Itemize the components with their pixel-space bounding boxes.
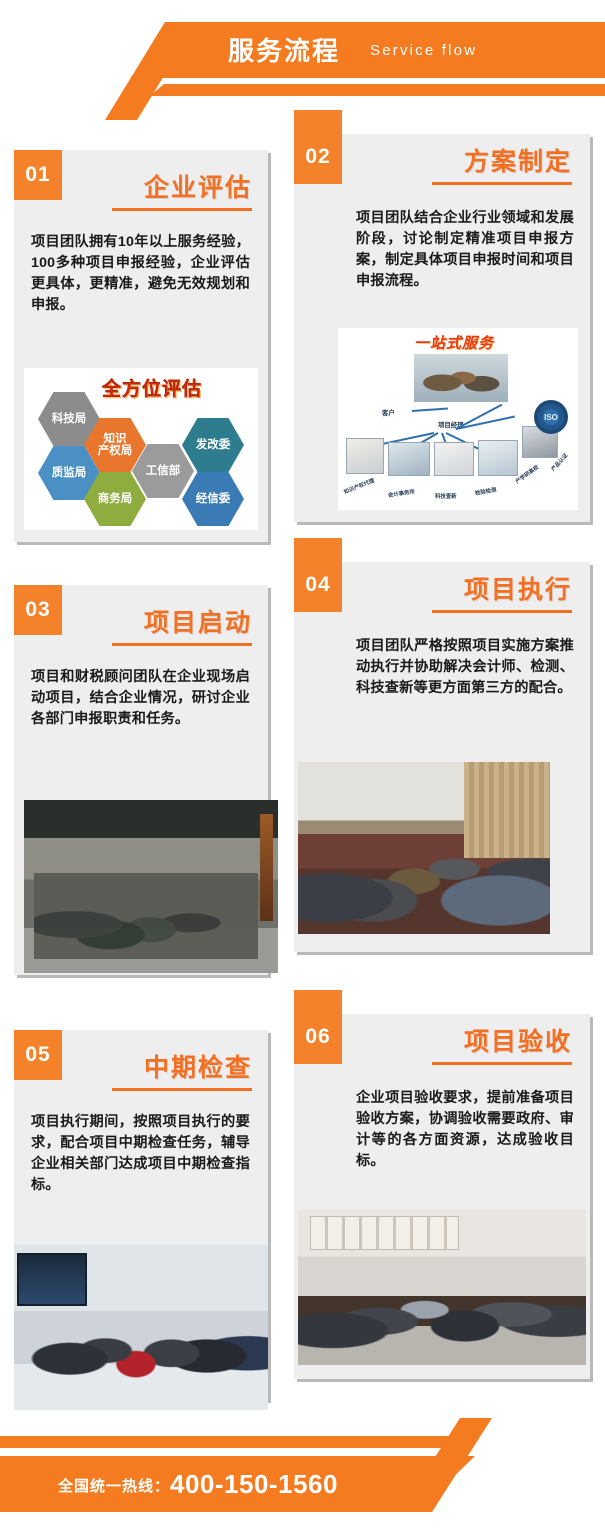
step-number-badge-03: 03 xyxy=(14,585,62,635)
step-photo-06 xyxy=(298,1210,586,1365)
title-underline-05 xyxy=(112,1088,252,1091)
step-body-06: 企业项目验收要求，提前准备项目验收方案，协调验收需要政府、审计等的各方面资源，达… xyxy=(356,1088,574,1172)
onestop-bottom-label-2: 会计事务所 xyxy=(387,487,415,499)
step-body-04: 项目团队严格按照项目实施方案推动执行并协助解决会计师、检测、科技查新等更方面第三… xyxy=(356,636,574,699)
hex-node-jingxin: 经信委 xyxy=(182,472,244,526)
hex-node-label: 经信委 xyxy=(196,493,231,506)
step-photo-05 xyxy=(14,1245,268,1410)
service-flow-infographic: 服务流程 Service flow 01 企业评估 项目团队拥有10年以上服务经… xyxy=(0,0,605,1538)
step-body-01: 项目团队拥有10年以上服务经验，100多种项目申报经验，企业评估更具体，更精准，… xyxy=(31,232,250,316)
step-title-03: 项目启动 xyxy=(144,603,252,639)
footer-banner: 全国统一热线：400-150-1560 xyxy=(0,1418,605,1538)
hex-diagram: 全方位评估 科技局 知识 产权局 质监局 商务局 工信部 发改委 xyxy=(24,368,258,530)
hotline: 全国统一热线：400-150-1560 xyxy=(58,1467,338,1504)
step-card-03: 03 项目启动 项目和财税顾问团队在企业现场启动项目，结合企业情况，研讨企业各部… xyxy=(14,585,268,975)
title-underline-02 xyxy=(432,182,572,185)
step-card-02: 02 方案制定 项目团队结合企业行业领域和发展阶段，讨论制定精准项目申报方案，制… xyxy=(294,134,590,522)
page-subtitle: Service flow xyxy=(370,38,477,64)
hotline-label: 全国统一热线： xyxy=(58,1478,170,1495)
onestop-node-search xyxy=(434,442,474,476)
step-body-02: 项目团队结合企业行业领域和发展阶段，讨论制定精准项目申报方案，制定具体项目申报时… xyxy=(356,208,574,292)
step-card-04: 04 项目执行 项目团队严格按照项目实施方案推动执行并协助解决会计师、检测、科技… xyxy=(294,562,590,952)
step-title-05: 中期检查 xyxy=(144,1048,252,1084)
onestop-node-testing xyxy=(478,440,518,476)
onestop-team-photo xyxy=(414,354,508,402)
step-title-01: 企业评估 xyxy=(144,168,252,204)
onestop-arrow-client xyxy=(412,407,448,412)
hex-diagram-title: 全方位评估 xyxy=(102,374,202,401)
step-title-06: 项目验收 xyxy=(464,1022,572,1058)
onestop-iso-seal: ISO xyxy=(534,400,568,434)
onestop-bottom-label-1: 知识产权代理 xyxy=(343,476,376,496)
title-underline-04 xyxy=(432,610,572,613)
step-body-03: 项目和财税顾问团队在企业现场启动项目，结合企业情况，研讨企业各部门申报职责和任务… xyxy=(31,667,250,730)
hotline-number[interactable]: 400-150-1560 xyxy=(170,1469,338,1499)
onestop-bottom-label-4: 检验检测 xyxy=(474,485,497,497)
footer-accent-band xyxy=(0,1436,455,1448)
onestop-node-accounting xyxy=(388,442,430,476)
title-underline-01 xyxy=(112,208,252,211)
hex-node-label: 质监局 xyxy=(52,467,87,480)
header-main-band xyxy=(130,22,605,78)
step-number-badge-05: 05 xyxy=(14,1030,62,1080)
title-underline-06 xyxy=(432,1062,572,1065)
hex-node-label: 知识 产权局 xyxy=(98,433,133,457)
hex-node-label: 发改委 xyxy=(196,439,231,452)
onestop-client-label: 客户 xyxy=(382,408,395,417)
onestop-diagram: 一站式服务 客户 项目经理 ISO 知识产权代理 会计事务所 xyxy=(338,328,578,510)
step-card-06: 06 项目验收 企业项目验收要求，提前准备项目验收方案，协调验收需要政府、审计等… xyxy=(294,1014,590,1379)
step-number-badge-01: 01 xyxy=(14,150,62,200)
page-title: 服务流程 xyxy=(228,30,340,72)
step-body-05: 项目执行期间，按照项目执行的要求，配合项目中期检查任务，辅导企业相关部门达成项目… xyxy=(31,1112,250,1196)
title-underline-03 xyxy=(112,643,252,646)
hex-node-label: 商务局 xyxy=(98,493,133,506)
step-number-badge-04: 04 xyxy=(294,538,342,612)
step-card-01: 01 企业评估 项目团队拥有10年以上服务经验，100多种项目申报经验，企业评估… xyxy=(14,150,268,542)
step-card-05: 05 中期检查 项目执行期间，按照项目执行的要求，配合项目中期检查任务，辅导企业… xyxy=(14,1030,268,1400)
step-number-badge-02: 02 xyxy=(294,110,342,184)
hex-node-fagai: 发改委 xyxy=(182,418,244,472)
header-banner: 服务流程 Service flow xyxy=(0,0,605,120)
onestop-bottom-label-3: 科技查新 xyxy=(435,492,457,500)
hex-node-label: 工信部 xyxy=(146,465,181,478)
hex-node-label: 科技局 xyxy=(52,413,87,426)
step-photo-04 xyxy=(298,762,550,934)
onestop-node-ip xyxy=(346,438,384,474)
header-accent-band xyxy=(150,84,605,96)
step-number-badge-06: 06 xyxy=(294,990,342,1064)
step-title-02: 方案制定 xyxy=(464,142,572,178)
step-photo-03 xyxy=(24,800,278,973)
onestop-diagram-title: 一站式服务 xyxy=(414,332,494,353)
step-title-04: 项目执行 xyxy=(464,570,572,606)
